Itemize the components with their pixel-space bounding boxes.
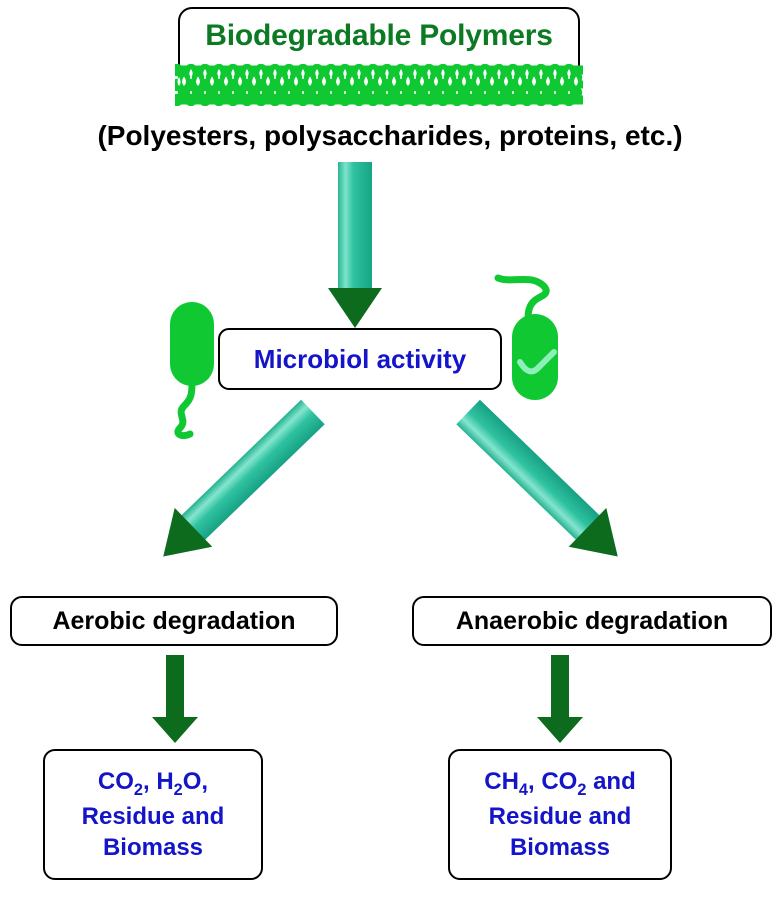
- subtitle-text: (Polyesters, polysaccharides, proteins, …: [0, 120, 780, 152]
- anaerobic-products-line1: CH4, CO2 and: [484, 766, 636, 801]
- formula-co2-prefix: , CO: [528, 768, 577, 795]
- diagonal-arrow-3d-icon: [455, 388, 651, 600]
- anaerobic-products-box: CH4, CO2 and Residue and Biomass: [448, 749, 672, 880]
- down-arrow-3d-icon: [318, 162, 392, 330]
- anaerobic-products-line2: Residue and: [484, 801, 636, 832]
- aerobic-products-label: CO2, H2O, Residue and Biomass: [82, 766, 225, 863]
- formula-co2-subscript: 2: [134, 781, 143, 799]
- down-arrow-solid-icon: [525, 655, 595, 745]
- aerobic-products-box: CO2, H2O, Residue and Biomass: [43, 749, 263, 880]
- formula-co2-suffix: and: [586, 768, 635, 795]
- down-arrow-solid-icon: [140, 655, 210, 745]
- microbial-activity-label: Microbiol activity: [254, 344, 466, 375]
- aerobic-degradation-label: Aerobic degradation: [52, 607, 295, 636]
- anaerobic-degradation-box: Anaerobic degradation: [412, 596, 772, 646]
- aerobic-products-line2: Residue and: [82, 801, 225, 832]
- diagram-canvas: Biodegradable Polymers: [0, 0, 780, 897]
- aerobic-products-line3: Biomass: [82, 832, 225, 863]
- aerobic-products-line1: CO2, H2O,: [82, 766, 225, 801]
- anaerobic-products-line3: Biomass: [484, 832, 636, 863]
- formula-co2-prefix: CO: [98, 768, 134, 795]
- formula-ch4-prefix: CH: [484, 768, 519, 795]
- formula-h2o-subscript: 2: [174, 781, 183, 799]
- bacterium-icon: [492, 266, 582, 406]
- polymer-chain-icon: [175, 64, 583, 106]
- diagonal-arrow-3d-icon: [130, 388, 326, 600]
- anaerobic-products-label: CH4, CO2 and Residue and Biomass: [484, 766, 636, 863]
- aerobic-degradation-box: Aerobic degradation: [10, 596, 338, 646]
- microbial-activity-box: Microbiol activity: [218, 328, 502, 390]
- anaerobic-degradation-label: Anaerobic degradation: [456, 607, 728, 636]
- formula-ch4-subscript: 4: [519, 781, 528, 799]
- formula-h2o-prefix: , H: [143, 768, 174, 795]
- page-title: Biodegradable Polymers: [205, 21, 552, 51]
- formula-h2o-suffix: O,: [183, 768, 208, 795]
